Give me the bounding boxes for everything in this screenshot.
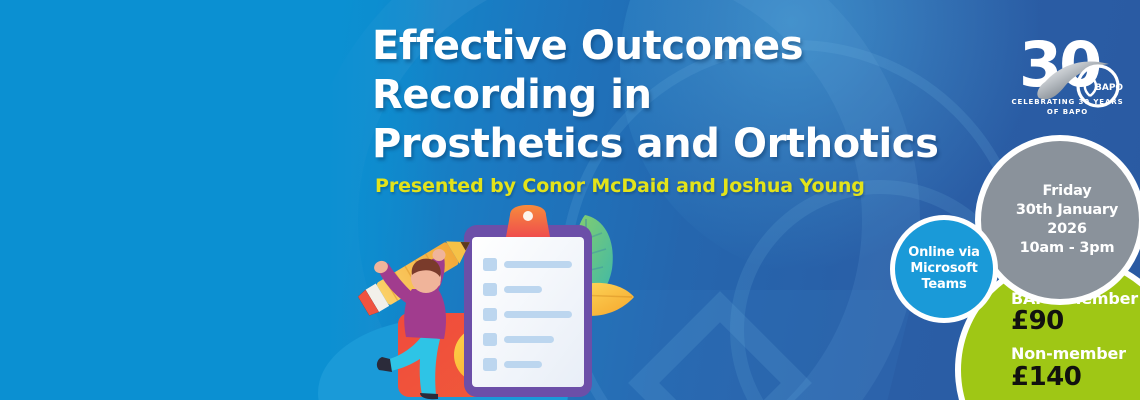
headline-line-1: Effective Outcomes	[372, 22, 982, 71]
nonmember-price-label: Non-member	[1011, 346, 1138, 362]
logo-bapo-text: BAPO	[1095, 83, 1123, 93]
clipboard-illustration	[350, 205, 660, 400]
online-line-1: Online via	[908, 245, 980, 261]
illustration-svg	[350, 205, 660, 400]
online-line-2: Microsoft	[908, 261, 980, 277]
date-line-3: 2026	[1016, 220, 1118, 239]
date-line-1: Friday	[1016, 182, 1118, 201]
online-line-3: Teams	[908, 277, 980, 293]
nonmember-price-value: £140	[1011, 364, 1138, 391]
logo-caption: CELEBRATING 30 YEARS OF BAPO	[1005, 97, 1130, 117]
date-line-4: 10am - 3pm	[1016, 239, 1118, 258]
headline-line-2: Recording in	[372, 71, 982, 120]
date-badge: Friday 30th January 2026 10am - 3pm	[975, 135, 1140, 305]
page-title: Effective Outcomes Recording in Prosthet…	[372, 22, 982, 169]
presenters-subtitle: Presented by Conor McDaid and Joshua You…	[375, 175, 865, 197]
headline-line-3: Prosthetics and Orthotics	[372, 120, 982, 169]
event-banner: Effective Outcomes Recording in Prosthet…	[0, 0, 1140, 400]
logo-caption-line-2: OF BAPO	[1005, 107, 1130, 117]
date-line-2: 30th January	[1016, 201, 1118, 220]
clipboard-icon	[464, 205, 592, 397]
member-price-value: £90	[1011, 308, 1138, 335]
online-platform-badge: Online via Microsoft Teams	[890, 215, 998, 323]
logo-caption-line-1: CELEBRATING 30 YEARS	[1005, 97, 1130, 107]
background-left-panel	[0, 0, 330, 400]
